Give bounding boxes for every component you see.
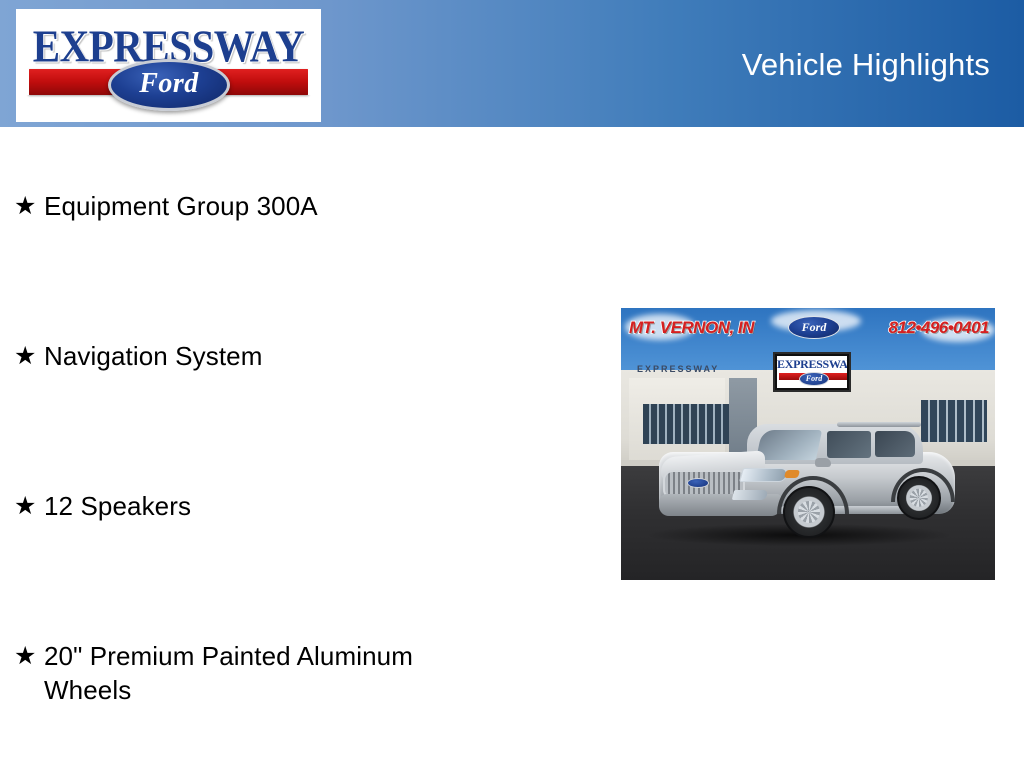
suv-front-wheel bbox=[783, 486, 835, 538]
dealer-logo[interactable]: EXPRESSWAY Ford bbox=[16, 9, 321, 122]
sign-ford-oval-icon: Ford bbox=[799, 372, 829, 386]
suv-roof-rail bbox=[837, 422, 921, 427]
sign-ford-label: Ford bbox=[800, 373, 828, 385]
suv-side-window-front bbox=[827, 431, 871, 458]
suv-side-window-rear bbox=[875, 431, 915, 457]
list-item: ★ 20" Premium Painted Aluminum Wheels bbox=[14, 639, 594, 707]
suv-headlight bbox=[739, 468, 789, 482]
ford-oval-icon: Ford bbox=[108, 59, 230, 111]
suv-rear-wheel bbox=[897, 476, 941, 520]
list-item-label: 12 Speakers bbox=[44, 489, 484, 523]
ford-oval-label: Ford bbox=[111, 68, 227, 100]
list-item: ★ Equipment Group 300A bbox=[14, 189, 594, 223]
star-icon: ★ bbox=[14, 489, 44, 523]
suv-front-wheel-hub bbox=[798, 501, 820, 523]
star-icon: ★ bbox=[14, 189, 44, 223]
sign-wordmark: EXPRESSWAY bbox=[777, 358, 847, 371]
list-item-label: 20" Premium Painted Aluminum Wheels bbox=[44, 639, 484, 707]
suv-ford-badge-icon bbox=[687, 478, 709, 488]
highlights-list: ★ Equipment Group 300A ★ Navigation Syst… bbox=[0, 127, 620, 768]
dealership-sign: EXPRESSWAY Ford bbox=[773, 352, 851, 392]
photo-phone-banner: 812•496•0401 bbox=[889, 318, 989, 338]
list-item-label: Equipment Group 300A bbox=[44, 189, 484, 223]
dealer-logo-graphic: EXPRESSWAY Ford bbox=[16, 9, 321, 122]
vehicle-photo[interactable]: EXPRESSWAY EXPRESSWAY Ford MT. VE bbox=[621, 308, 995, 580]
star-icon: ★ bbox=[14, 639, 44, 673]
building-wordmark: EXPRESSWAY bbox=[637, 364, 719, 374]
photo-ford-label: Ford bbox=[789, 317, 839, 337]
suv-illustration bbox=[651, 418, 963, 538]
list-item-label: Navigation System bbox=[44, 339, 484, 373]
suv-windshield bbox=[756, 430, 822, 460]
list-item: ★ Navigation System bbox=[14, 339, 594, 373]
suv-side-mirror bbox=[815, 458, 831, 467]
star-icon: ★ bbox=[14, 339, 44, 373]
suv-fog-light bbox=[732, 490, 768, 500]
page-title: Vehicle Highlights bbox=[742, 47, 990, 83]
photo-ford-oval-icon: Ford bbox=[788, 316, 840, 339]
list-item: ★ 12 Speakers bbox=[14, 489, 594, 523]
suv-rear-wheel-hub bbox=[910, 489, 928, 507]
photo-city-banner: MT. VERNON, IN bbox=[629, 318, 754, 338]
dealership-sign-face: EXPRESSWAY Ford bbox=[777, 356, 847, 388]
